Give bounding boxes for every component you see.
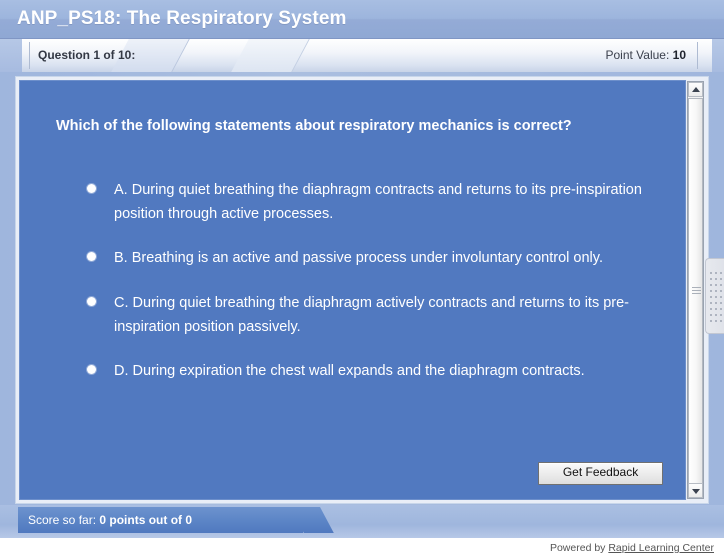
title-bar: ANP_PS18: The Respiratory System [0, 0, 724, 39]
powered-by-label: Powered by [550, 542, 605, 554]
header-right-edge [712, 39, 724, 72]
footer: Powered by Rapid Learning Center [0, 538, 724, 559]
header-slant-decoration-2 [231, 39, 310, 72]
answer-option-label: C. During quiet breathing the diaphragm … [114, 292, 656, 339]
triangle-up-icon [692, 87, 700, 92]
answer-option-label: B. Breathing is an active and passive pr… [114, 247, 656, 271]
answer-option-label: D. During expiration the chest wall expa… [114, 360, 656, 384]
point-value-label: Point Value: [605, 48, 669, 62]
grip-lines-icon [692, 287, 701, 295]
course-title: ANP_PS18: The Respiratory System [17, 8, 347, 30]
scrollbar-thumb[interactable] [688, 98, 703, 484]
header-divider-right [697, 42, 698, 69]
score-label: Score so far: [28, 513, 96, 527]
answer-option-d[interactable]: D. During expiration the chest wall expa… [76, 360, 656, 384]
powered-by: Powered by Rapid Learning Center [550, 542, 714, 554]
header-divider-left [29, 42, 30, 69]
radio-button-icon[interactable] [87, 365, 96, 374]
vertical-scrollbar[interactable] [687, 81, 704, 499]
score-bar-area: Score so far: 0 points out of 0 [0, 505, 724, 538]
answer-option-label: A. During quiet breathing the diaphragm … [114, 179, 656, 226]
brand-link[interactable]: Rapid Learning Center [608, 542, 714, 554]
question-counter: Question 1 of 10: [38, 48, 135, 62]
score-value: 0 points out of 0 [99, 513, 192, 527]
point-value: Point Value: 10 [605, 48, 686, 62]
answer-option-a[interactable]: A. During quiet breathing the diaphragm … [76, 179, 656, 226]
score-status: Score so far: 0 points out of 0 [28, 513, 192, 527]
radio-button-icon[interactable] [87, 297, 96, 306]
scroll-up-button[interactable] [688, 82, 703, 97]
triangle-down-icon [692, 489, 700, 494]
question-header-bar: Question 1 of 10: Point Value: 10 [0, 39, 724, 72]
resize-grip-handle[interactable] [705, 258, 724, 334]
point-value-number: 10 [673, 48, 686, 62]
answer-option-b[interactable]: B. Breathing is an active and passive pr… [76, 247, 656, 271]
question-prompt: Which of the following statements about … [56, 116, 616, 137]
question-panel: Which of the following statements about … [19, 80, 686, 500]
get-feedback-button[interactable]: Get Feedback [538, 462, 663, 485]
scroll-down-button[interactable] [688, 483, 703, 498]
grip-dots-icon [710, 272, 722, 322]
answer-option-c[interactable]: C. During quiet breathing the diaphragm … [76, 292, 656, 339]
header-left-edge [0, 39, 22, 72]
radio-button-icon[interactable] [87, 252, 96, 261]
quiz-application: ANP_PS18: The Respiratory System Questio… [0, 0, 724, 559]
radio-button-icon[interactable] [87, 184, 96, 193]
answer-options-list: A. During quiet breathing the diaphragm … [76, 179, 656, 405]
